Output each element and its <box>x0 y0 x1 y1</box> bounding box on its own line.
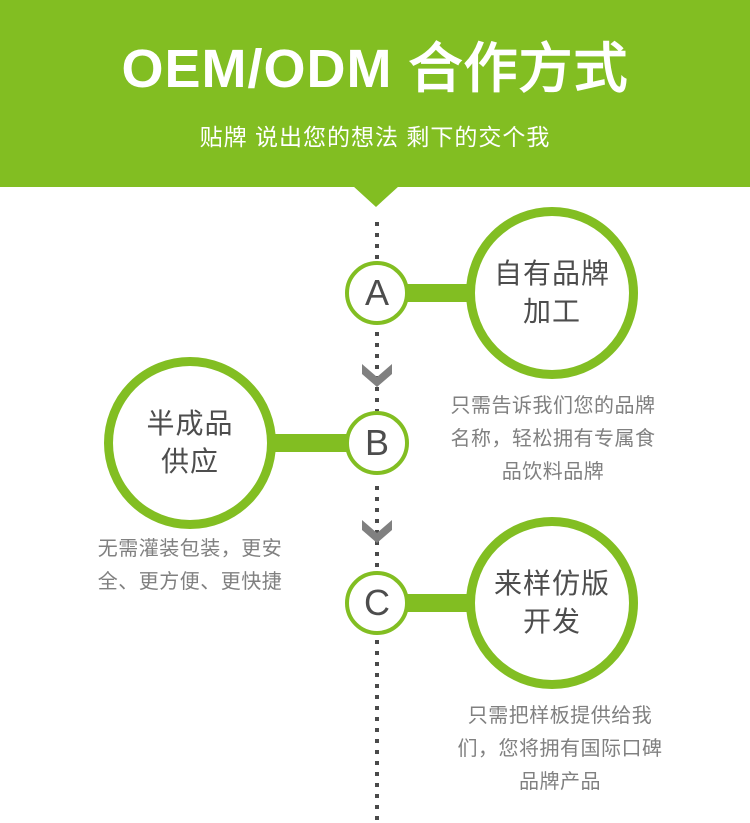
step-node-a[interactable]: A <box>345 261 409 325</box>
step-desc-b-line2: 全、更方便、更快捷 <box>77 566 303 599</box>
step-bubble-b-text: 半成品 供应 <box>146 405 233 481</box>
step-desc-a-line2: 名称，轻松拥有专属食 <box>440 423 666 456</box>
step-desc-a: 只需告诉我们您的品牌 名称，轻松拥有专属食 品饮料品牌 <box>440 390 666 489</box>
step-desc-b-line1: 无需灌装包装，更安 <box>77 533 303 566</box>
step-bubble-b-line2: 供应 <box>146 443 233 481</box>
page-subtitle: 贴牌 说出您的想法 剩下的交个我 <box>0 122 750 152</box>
chevron-down-icon-1 <box>360 362 394 396</box>
step-desc-c: 只需把样板提供给我 们，您将拥有国际口碑 品牌产品 <box>440 700 680 799</box>
step-bubble-a-line2: 加工 <box>494 293 610 331</box>
step-node-c[interactable]: C <box>345 571 409 635</box>
step-desc-a-line1: 只需告诉我们您的品牌 <box>440 390 666 423</box>
step-bubble-c[interactable]: 来样仿版 开发 <box>466 517 638 689</box>
chevron-down-icon-2 <box>360 518 394 552</box>
page-title: OEM/ODM 合作方式 <box>0 38 750 100</box>
step-bubble-c-text: 来样仿版 开发 <box>494 565 610 641</box>
step-desc-c-line2: 们，您将拥有国际口碑 <box>440 733 680 766</box>
header-notch-triangle <box>353 186 399 207</box>
step-desc-b: 无需灌装包装，更安 全、更方便、更快捷 <box>77 533 303 599</box>
step-bubble-a-line1: 自有品牌 <box>494 258 610 289</box>
step-node-b[interactable]: B <box>345 411 409 475</box>
step-letter-b: B <box>349 415 405 471</box>
header-banner: OEM/ODM 合作方式 贴牌 说出您的想法 剩下的交个我 <box>0 0 750 187</box>
step-bubble-b-line1: 半成品 <box>146 408 233 439</box>
step-bubble-c-line2: 开发 <box>494 603 610 641</box>
step-bubble-c-line1: 来样仿版 <box>494 568 610 599</box>
step-letter-a: A <box>349 265 405 321</box>
step-bubble-a-text: 自有品牌 加工 <box>494 255 610 331</box>
step-letter-c: C <box>349 575 405 631</box>
infographic-page: OEM/ODM 合作方式 贴牌 说出您的想法 剩下的交个我 A 自有品牌 加工 … <box>0 0 750 823</box>
step-bubble-a[interactable]: 自有品牌 加工 <box>466 207 638 379</box>
step-desc-c-line1: 只需把样板提供给我 <box>440 700 680 733</box>
step-bubble-b[interactable]: 半成品 供应 <box>104 357 276 529</box>
step-desc-c-line3: 品牌产品 <box>440 766 680 799</box>
step-desc-a-line3: 品饮料品牌 <box>440 456 666 489</box>
